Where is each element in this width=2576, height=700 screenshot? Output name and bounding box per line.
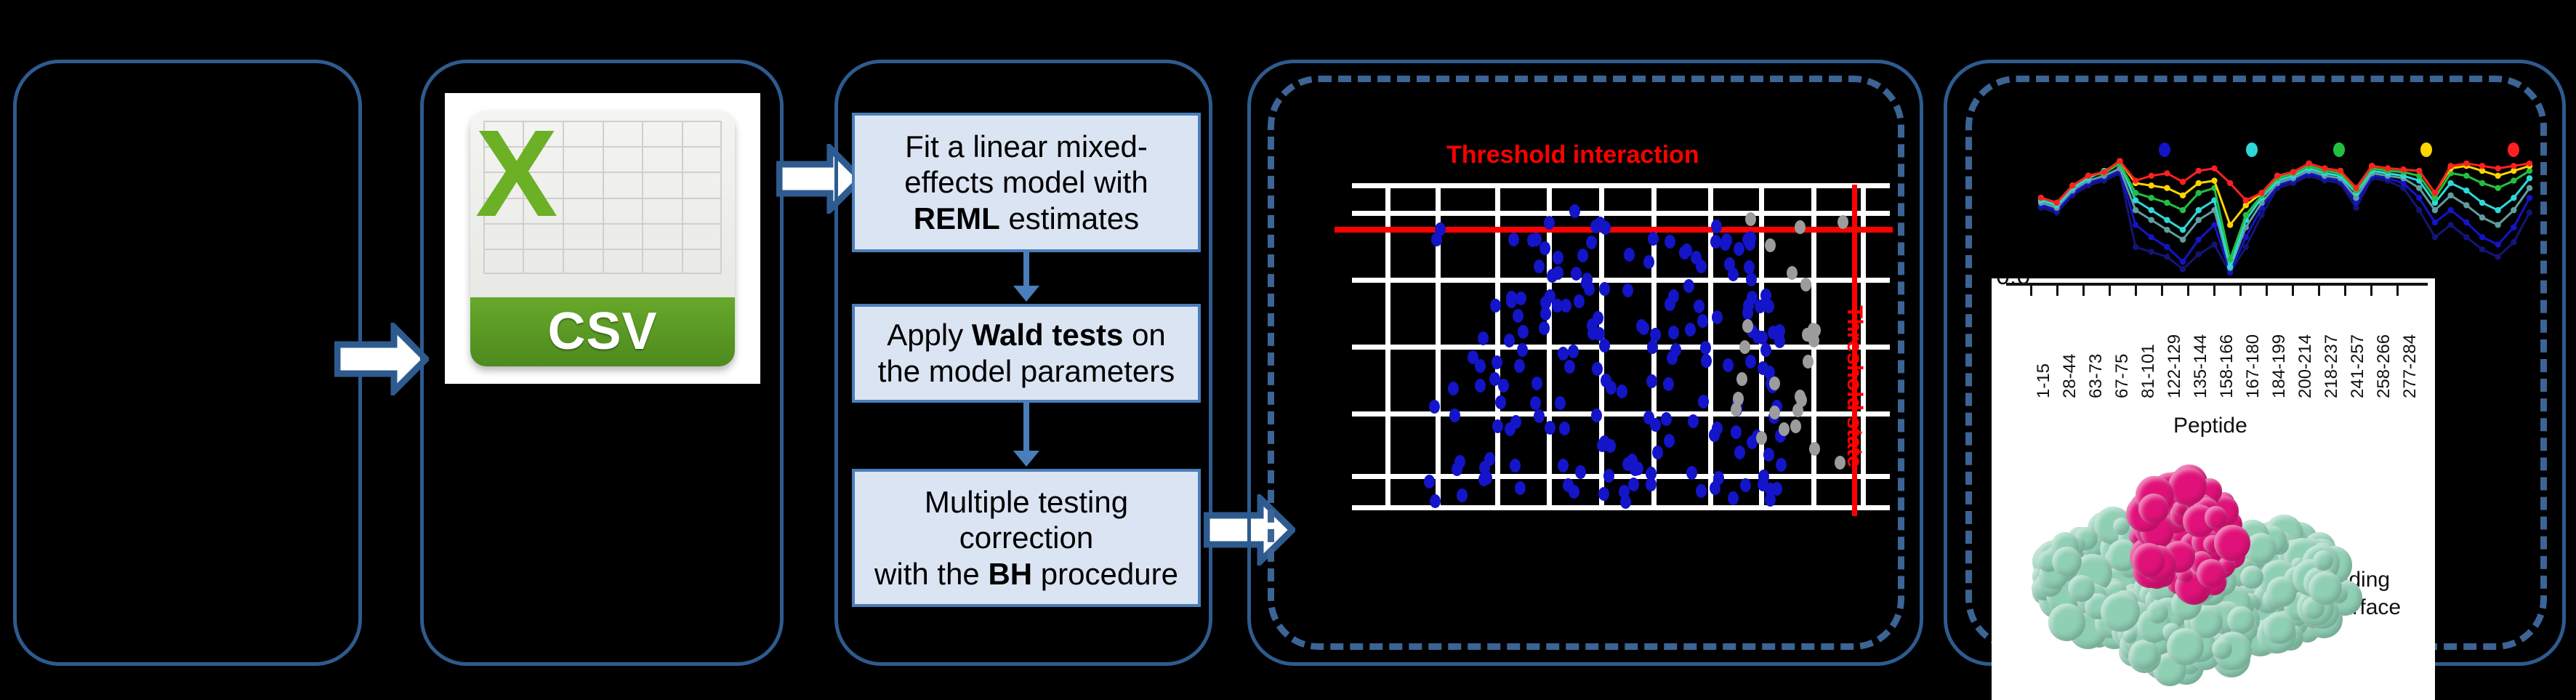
series-point [2227,264,2233,270]
volcano-point [1728,491,1739,505]
volcano-point [1779,422,1790,436]
volcano-point [1712,422,1723,435]
series-point [2511,195,2516,201]
volcano-point [1758,361,1768,375]
x-tick-label: 135-144 [2191,334,2211,398]
series-point [2149,195,2154,201]
legend-dot-state-3 [2333,142,2345,157]
volcano-point [1787,266,1798,280]
volcano-point [1600,221,1611,235]
volcano-point [1495,395,1506,409]
series-point [2527,209,2532,215]
protein-surface-blob [2068,575,2095,602]
volcano-point [1429,400,1440,414]
connector-2 [1023,403,1029,452]
series-point [2196,180,2202,186]
volcano-point [1510,459,1521,472]
legend-dot-state-4 [2420,142,2432,157]
volcano-point [1545,421,1555,435]
volcano-point [1697,314,1708,328]
series-point [2227,257,2233,262]
x-tick-label: 258-266 [2374,334,2394,398]
volcano-point [1605,439,1616,453]
volcano-point [1627,454,1638,467]
volcano-point [1591,409,1602,422]
volcano-point [1514,359,1525,373]
box-multiple-testing: Multiple testing correction with the BH … [852,469,1201,607]
series-point [2164,254,2170,260]
series-point [2164,185,2170,191]
volcano-point [1617,385,1627,398]
series-point [2196,207,2202,213]
series-point [2511,239,2516,245]
x-tick-mark [2239,284,2242,296]
series-point [2133,177,2138,183]
volcano-point [1431,233,1442,246]
volcano-point [1763,448,1774,462]
volcano-point [1587,318,1598,332]
protein-surface-blob [2205,506,2227,528]
volcano-point [1534,409,1545,423]
series-point [2164,227,2170,233]
volcano-point [1553,266,1563,280]
series-point [2069,182,2075,188]
series-point [2164,244,2170,250]
series-point [2149,217,2154,222]
box-wald-term: Wald tests [972,318,1123,352]
volcano-point [1790,419,1801,433]
series-point [2290,169,2296,175]
volcano-point [1564,360,1575,374]
series-point [2133,197,2138,203]
x-tick-mark [2396,284,2399,296]
x-tick-mark [2370,284,2372,296]
volcano-point [1838,215,1848,229]
box-mt-with: with the [874,557,988,591]
connector-2-head [1013,451,1039,467]
protein-surface-blob [2197,559,2226,588]
peptide-chart-svg [2028,145,2537,280]
series-point [2149,207,2154,213]
series-point [2385,165,2391,171]
volcano-point [1663,377,1674,391]
volcano-point [1809,442,1820,456]
series-point [2527,175,2532,181]
volcano-point [1723,358,1734,372]
box-model-fit-line-3: REML estimates [904,201,1148,237]
results-card: 0.0 1-1528-4463-7367-7581-101122-129135-… [1992,278,2435,700]
x-tick-label: 63-73 [2086,354,2106,398]
series-point [2211,165,2217,171]
series-point [2243,244,2249,250]
volcano-point [1430,494,1441,508]
x-tick-mark [2082,284,2085,296]
volcano-points [1352,183,1890,510]
series-point [2180,179,2186,185]
box-mt-line-1: Multiple testing [874,484,1178,520]
x-tick-mark [2213,284,2215,296]
series-point [2511,207,2516,213]
csv-label-band: CSV [470,297,736,366]
volcano-point [1668,326,1679,339]
x-tick-label: 28-44 [2060,354,2080,398]
volcano-point [1808,323,1819,337]
volcano-point [1685,323,1696,337]
series-point [2495,165,2500,171]
x-axis-title: Peptide [2173,414,2247,438]
series-point [2164,200,2170,206]
volcano-point [1492,355,1502,369]
series-line [2041,173,2529,273]
box-wald-line-1: Apply Wald tests on [878,317,1175,353]
volcano-point [1575,465,1586,479]
volcano-point [1664,434,1675,448]
volcano-point [1539,321,1550,335]
series-point [2463,173,2469,179]
volcano-point [1760,343,1771,357]
volcano-point [1795,220,1806,234]
box-mt-line-3: with the BH procedure [874,556,1178,592]
volcano-point [1448,382,1459,395]
box-mt-bh: BH [988,557,1032,591]
x-tick-mark [2109,284,2111,296]
series-point [2227,180,2233,186]
series-point [2511,177,2516,183]
series-point [2495,254,2500,260]
volcano-point [1647,340,1658,354]
series-point [2447,222,2453,228]
series-point [2479,180,2485,186]
series-point [2479,234,2485,240]
volcano-point [1577,249,1588,262]
volcano-point [1568,345,1579,358]
volcano-point [1624,248,1635,262]
series-point [2447,207,2453,213]
series-point [2133,244,2138,250]
series-point [2101,169,2107,175]
box-model-fit: Fit a linear mixed- effects model with R… [852,113,1201,252]
series-point [2196,190,2202,196]
series-point [2416,207,2422,213]
volcano-point [1696,484,1707,498]
box-wald-line-2: the model parameters [878,353,1175,390]
volcano-point [1454,455,1465,469]
box-model-fit-line-2: effects model with [904,164,1148,201]
series-point [2400,166,2406,172]
volcano-point [1569,204,1580,218]
series-point [2495,241,2500,247]
series-point [2211,177,2217,183]
series-point [2463,220,2469,225]
csv-file-icon: X CSV [445,93,760,384]
volcano-point [1720,237,1731,251]
volcano-point [1539,241,1550,255]
volcano-point [1592,362,1603,376]
volcano-point [1701,354,1712,368]
volcano-point [1803,355,1814,369]
volcano-point [1457,488,1468,502]
x-tick-mark [2030,284,2032,296]
chart-legend [2028,142,2537,164]
series-point [2243,212,2249,218]
protein-surface-blob [2212,638,2232,659]
x-tick-label: 1-15 [2034,363,2054,398]
volcano-point [1758,470,1769,483]
volcano-point [1518,325,1529,339]
series-point [2479,246,2485,252]
volcano-point [1513,309,1524,323]
volcano-point [1711,220,1722,233]
volcano-point [1569,485,1579,499]
series-point [2463,234,2469,240]
volcano-point [1731,425,1742,439]
volcano-point [1643,255,1654,269]
series-point [2527,195,2532,201]
series-point [2495,222,2500,228]
volcano-point [1504,334,1515,347]
volcano-point [1646,467,1657,480]
series-point [2495,207,2500,213]
x-tick-mark [2056,284,2058,296]
volcano-point [1745,355,1756,369]
legend-dot-state-1 [2159,142,2170,157]
series-point [2211,222,2217,228]
volcano-point [1670,343,1681,357]
volcano-point [1449,409,1460,422]
volcano-point [1530,396,1541,410]
volcano-point [1769,377,1780,390]
excel-x-glyph: X [475,116,563,223]
x-tick-mark [2318,284,2320,296]
series-point [2432,207,2438,213]
volcano-point [1742,319,1753,333]
x-tick-label: 184-199 [2269,334,2290,398]
series-point [2432,234,2438,240]
volcano-point [1620,495,1631,509]
csv-label: CSV [547,302,657,361]
volcano-point [1598,487,1609,501]
volcano-point [1571,267,1582,281]
x-tick-mark [2161,284,2163,296]
panel-input [13,60,362,666]
volcano-point [1559,422,1570,435]
series-point [2053,200,2059,206]
series-point [2353,185,2359,191]
x-axis-ticks: 1-1528-4463-7367-7581-101122-129135-1441… [1992,278,2435,409]
x-tick-label: 158-166 [2217,334,2237,398]
x-tick-mark [2135,284,2137,296]
volcano-point [1648,232,1659,246]
volcano-point [1700,341,1711,355]
volcano-point [1622,283,1633,297]
series-point [2133,190,2138,196]
volcano-point [1739,340,1750,354]
series-point [2527,185,2532,191]
volcano-point [1776,458,1787,472]
volcano-point [1712,310,1723,324]
volcano-point [1744,260,1755,274]
protein-surface-blob [2167,628,2203,664]
volcano-point [1710,481,1720,495]
volcano-point [1835,456,1846,470]
series-point [2180,236,2186,242]
x-tick-mark [2187,284,2189,296]
volcano-point [1489,372,1500,386]
volcano-point [1599,282,1610,296]
volcano-point [1492,419,1503,433]
x-tick-label: 122-129 [2165,334,2185,398]
series-point [2164,217,2170,222]
series-point [2416,168,2422,174]
protein-surface-blob [2309,571,2342,605]
protein-surface-blob [2263,612,2295,644]
volcano-point [1599,339,1610,353]
volcano-point [1800,278,1811,291]
volcano-title: Threshold interaction [1446,141,1699,169]
volcano-point [1558,347,1569,361]
volcano-point [1475,379,1486,393]
volcano-point [1603,469,1614,483]
volcano-point [1747,291,1758,305]
series-point [2479,200,2485,206]
series-point [2196,236,2202,242]
series-point [2196,217,2202,222]
volcano-point [1765,238,1776,252]
x-tick-label: 241-257 [2348,334,2368,398]
volcano-point [1508,233,1519,246]
legend-dot-state-2 [2246,142,2258,157]
x-tick-mark [2292,284,2294,296]
series-point [2180,193,2186,198]
volcano-point [1505,422,1516,436]
connector-1 [1023,252,1029,287]
volcano-point [1769,406,1780,419]
volcano-point [1515,481,1526,495]
csv-card: X CSV [470,110,736,366]
protein-surface-blob [2227,606,2255,634]
box-wald-tests: Apply Wald tests on the model parameters [852,304,1201,403]
volcano-point [1694,299,1704,313]
box-model-fit-reml: REML [914,201,1000,236]
series-point [2463,202,2469,208]
series-point [2149,234,2154,240]
volcano-point [1490,299,1501,313]
series-point [2149,182,2154,188]
volcano-point [1742,306,1753,320]
protein-surface-blob [2313,550,2333,571]
x-tick-label: 81-101 [2138,344,2159,398]
volcano-point [1661,412,1672,426]
volcano-point [1534,260,1545,273]
protein-surface-blob [2138,494,2169,524]
series-point [2149,249,2154,254]
volcano-point [1558,459,1569,472]
series-point [2196,252,2202,257]
series-point [2495,173,2500,179]
volcano-point [1740,478,1751,492]
volcano-point [1734,242,1744,256]
box-model-fit-line-1: Fit a linear mixed- [904,129,1148,165]
box-mt-line-2: correction [874,520,1178,556]
series-point [2463,188,2469,193]
protein-surface-blob [2132,543,2165,576]
volcano-point [1756,431,1767,445]
x-tick-label: 200-214 [2295,334,2316,398]
protein-surface-blob [2240,566,2263,589]
volcano-point [1736,372,1747,386]
x-tick-mark [2266,284,2268,296]
box-wald-on: on [1123,318,1165,352]
series-point [2479,214,2485,220]
volcano-plot: Threshold interaction Threshold state [1352,145,1890,523]
series-point [2432,190,2438,196]
x-tick-label: 277-284 [2400,334,2420,398]
volcano-point [1734,446,1745,459]
volcano-point [1574,294,1585,308]
volcano-point [1774,324,1785,338]
legend-dot-state-5 [2508,142,2519,157]
series-point [2180,207,2186,213]
workflow-diagram: X CSV Fit a linear mixed- effects model … [0,0,2576,687]
x-tick-label: 218-237 [2322,334,2342,398]
series-point [2338,168,2343,174]
volcano-point [1746,273,1757,286]
protein-surface-blob [2146,601,2168,623]
series-point [2133,207,2138,213]
volcano-point [1795,390,1806,403]
series-point [2038,195,2044,201]
volcano-point [1636,319,1647,333]
series-point [2447,193,2453,198]
x-tick-label: 167-180 [2243,334,2263,398]
series-point [2164,170,2170,176]
volcano-point [1553,251,1563,265]
series-point [2495,185,2500,191]
volcano-point [1686,466,1697,480]
series-point [2180,227,2186,233]
protein-structure-image [2015,440,2364,680]
volcano-point [1760,289,1771,302]
volcano-point [1544,216,1555,230]
volcano-point [1650,328,1661,342]
volcano-point [1517,343,1528,357]
series-point [2133,222,2138,228]
volcano-point [1478,331,1489,345]
volcano-point [1552,299,1563,313]
series-point [2511,225,2516,230]
volcano-point [1424,475,1435,488]
protein-surface-blob [2129,640,2159,669]
series-point [2447,180,2453,186]
protein-surface-blob [2101,592,2140,632]
peptide-line-chart [2028,145,2537,280]
volcano-point [1481,471,1492,485]
protein-surface-blob [2168,467,2207,506]
protein-surface-blob [2214,525,2250,561]
volcano-point [1531,377,1542,390]
box-mt-proc: procedure [1032,557,1178,591]
series-point [2274,173,2280,179]
series-point [2196,168,2202,174]
volcano-point [1698,395,1709,409]
volcano-point [1688,414,1699,428]
series-point [2243,197,2249,203]
series-point [2149,173,2154,179]
x-tick-label: 67-75 [2112,354,2133,398]
volcano-point [1628,478,1639,491]
series-point [2211,241,2217,247]
series-point [2416,185,2422,191]
